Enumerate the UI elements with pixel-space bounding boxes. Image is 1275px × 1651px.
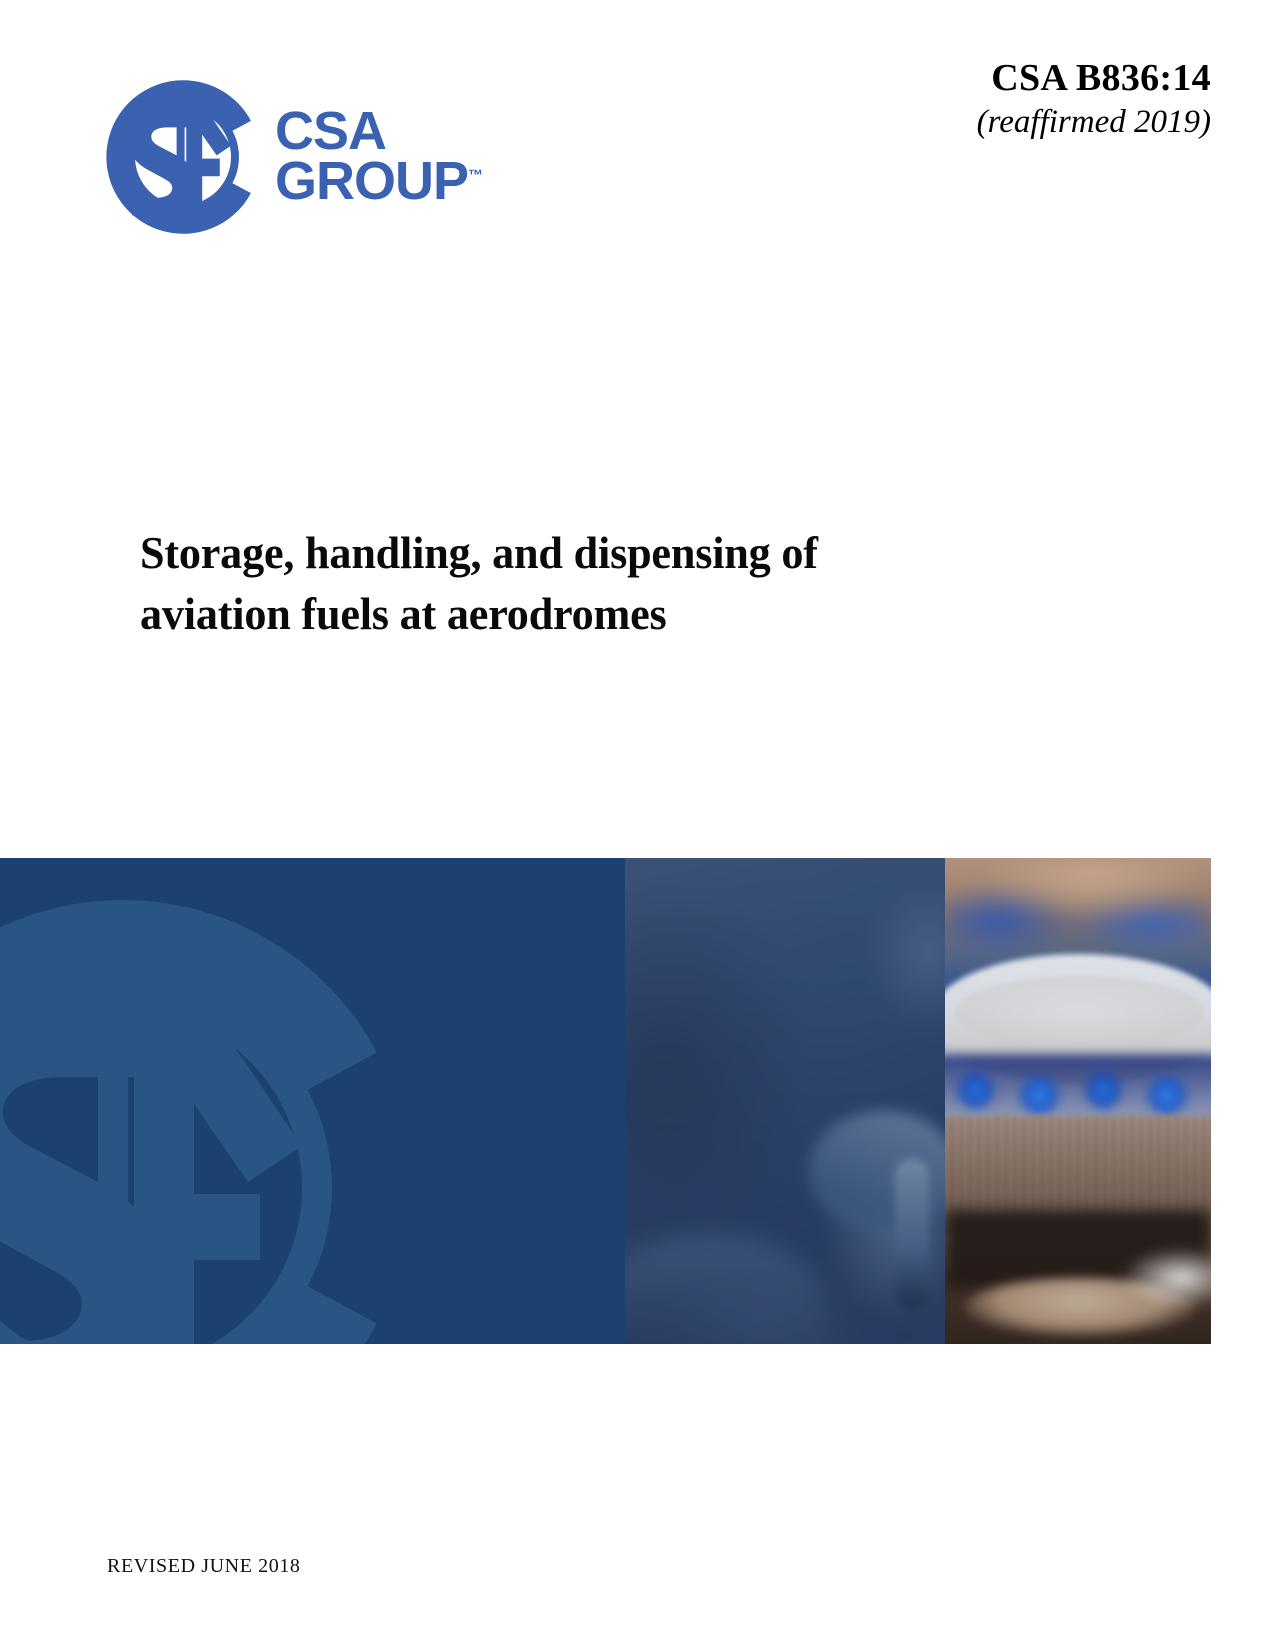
csa-logo-mark: [103, 77, 263, 237]
cover-equipment-photo-panel: [625, 858, 945, 1344]
page-title: Storage, handling, and dispensing of avi…: [140, 523, 1023, 644]
standard-designation: CSA B836:14 (reaffirmed 2019): [691, 56, 1211, 142]
cover-brand-panel: [0, 858, 625, 1344]
equipment-blue-tint-overlay: [625, 858, 945, 1344]
standard-number: CSA B836:14: [691, 56, 1211, 101]
logo-word-group: GROUP™: [275, 157, 483, 207]
csa-logo-watermark-icon: [0, 888, 422, 1344]
burner-cap-texture: [955, 976, 1205, 1048]
csa-group-logo: CSA GROUP™: [103, 72, 533, 242]
cover-image-band: [0, 858, 1211, 1344]
page-title-line-2: aviation fuels at aerodromes: [140, 584, 1023, 645]
trademark-icon: ™: [468, 167, 483, 184]
cover-burner-flame-panel: [945, 858, 1211, 1344]
logo-word-csa: CSA: [275, 107, 483, 157]
standard-status: (reaffirmed 2019): [691, 103, 1211, 143]
csa-group-wordmark: CSA GROUP™: [275, 107, 483, 206]
revision-note: REVISED JUNE 2018: [107, 1555, 301, 1578]
page-title-line-1: Storage, handling, and dispensing of: [140, 523, 1023, 584]
